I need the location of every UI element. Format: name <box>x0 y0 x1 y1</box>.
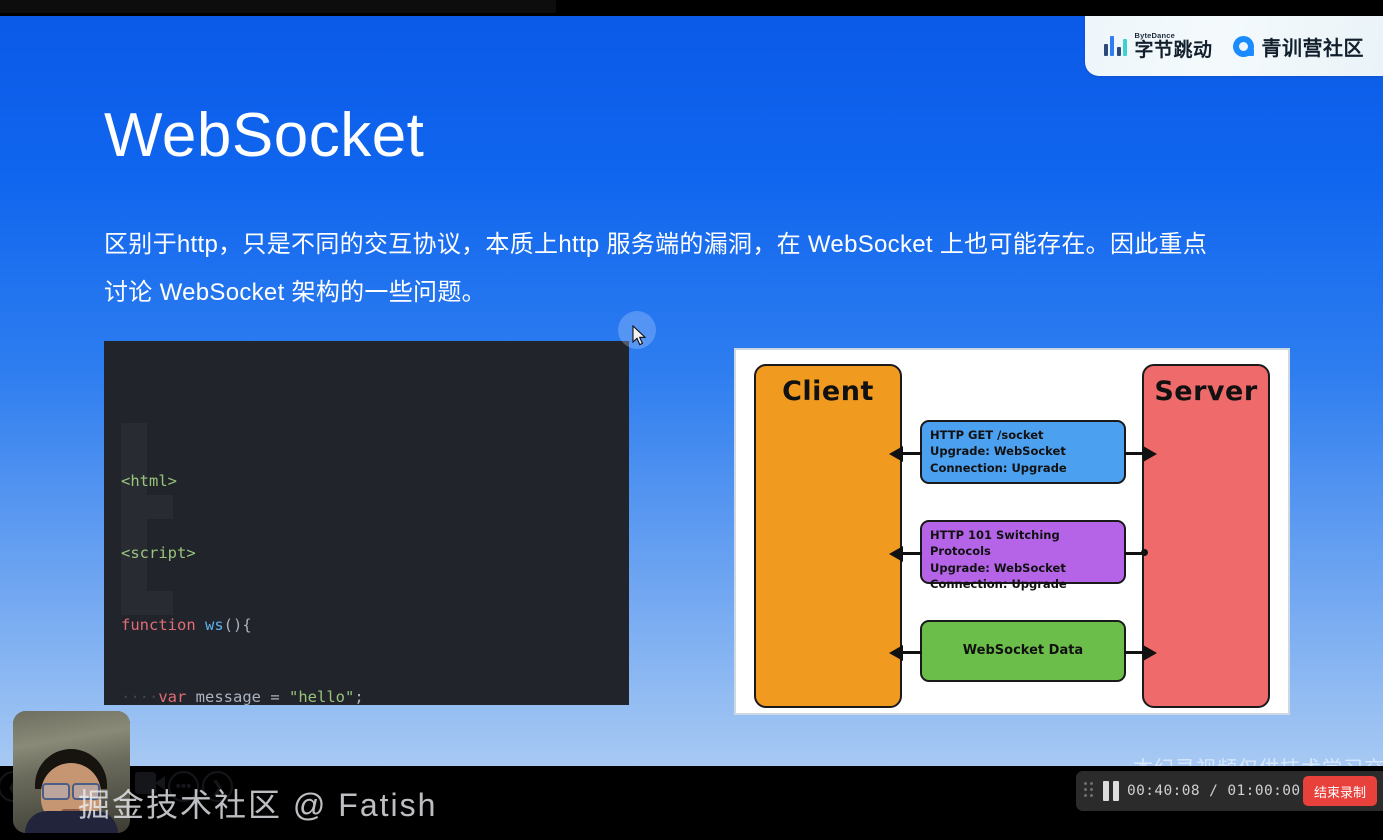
message-line: HTTP 101 Switching Protocols <box>930 527 1116 560</box>
code-token-fn-name: ws <box>205 616 224 634</box>
diagram-message-handshake-request: HTTP GET /socket Upgrade: WebSocket Conn… <box>920 420 1126 484</box>
slide-canvas: WebSocket 区别于http，只是不同的交互协议，本质上http 服务端的… <box>0 16 1383 766</box>
diagram-node-server: Server <box>1142 364 1270 708</box>
diagram-node-client: Client <box>754 364 902 708</box>
diagram-message-handshake-response: HTTP 101 Switching Protocols Upgrade: We… <box>920 520 1126 584</box>
server-label: Server <box>1144 376 1268 407</box>
code-whitespace-dots: ···· <box>121 688 158 705</box>
screen: WebSocket 区别于http，只是不同的交互协议，本质上http 服务端的… <box>0 0 1383 840</box>
code-line: <html> <box>104 469 629 493</box>
slide-title: WebSocket <box>104 102 424 170</box>
websocket-handshake-diagram: Client Server HTTP GET /socket Upgrade: … <box>734 348 1290 715</box>
recording-timer: 00:40:08 / 01:00:00 <box>1127 783 1300 799</box>
code-punc: = <box>261 688 289 705</box>
arrow-to-client <box>902 552 922 555</box>
stop-recording-button[interactable]: 结束录制 <box>1303 776 1377 806</box>
code-space <box>196 616 205 634</box>
code-space <box>186 688 195 705</box>
diagram-inner: Client Server HTTP GET /socket Upgrade: … <box>744 358 1280 705</box>
code-content: <html> <script> function ws(){ ····var m… <box>104 341 629 705</box>
pause-icon[interactable] <box>1103 781 1119 801</box>
watermark: 掘金技术社区 @ Fatish <box>78 780 437 826</box>
window-top-bar <box>0 0 1383 16</box>
community-mark-icon <box>1233 36 1254 57</box>
bytedance-text: ByteDance 字节跳动 <box>1134 32 1212 61</box>
indent-guide <box>121 423 147 615</box>
arrow-to-server <box>1124 452 1144 455</box>
bytedance-bars-icon <box>1104 36 1128 56</box>
drag-handle-icon[interactable] <box>1084 782 1097 800</box>
code-line: function ws(){ <box>104 613 629 637</box>
bytedance-label-en: ByteDance <box>1134 32 1212 40</box>
code-token-hello-str: "hello" <box>289 688 354 705</box>
code-token-var-kw: var <box>158 688 186 705</box>
code-punc: ; <box>354 688 363 705</box>
arrow-from-client <box>902 452 922 455</box>
code-token-function-kw: function <box>121 616 196 634</box>
slide-body-line-2: 讨论 WebSocket 架构的一些问题。 <box>104 269 1289 317</box>
top-bar-left-segment <box>0 0 556 13</box>
indent-guide <box>147 495 173 519</box>
community-label-cn: 青训营社区 <box>1262 32 1365 61</box>
community-logo: 青训营社区 <box>1233 32 1365 61</box>
code-line: ····var message = "hello"; <box>104 685 629 705</box>
code-line: <script> <box>104 541 629 565</box>
message-line: Upgrade: WebSocket <box>930 443 1116 459</box>
code-punc: (){ <box>224 616 252 634</box>
message-line: Connection: Upgrade <box>930 460 1116 476</box>
bytedance-label-cn: 字节跳动 <box>1134 41 1212 60</box>
mouse-cursor <box>632 325 648 347</box>
client-label: Client <box>756 376 900 407</box>
recording-control-bar[interactable]: 00:40:08 / 01:00:00 结束录制 <box>1076 771 1383 811</box>
code-token-message-id: message <box>196 688 261 705</box>
slide-body-line-1: 区别于http，只是不同的交互协议，本质上http 服务端的漏洞，在 WebSo… <box>104 221 1289 269</box>
diagram-message-websocket-data: WebSocket Data <box>920 620 1126 682</box>
sponsor-brand-bar: ByteDance 字节跳动 青训营社区 <box>1085 16 1383 76</box>
indent-guide <box>147 591 173 615</box>
message-line: Connection: Upgrade <box>930 576 1116 592</box>
bytedance-logo: ByteDance 字节跳动 <box>1104 32 1213 61</box>
message-line: HTTP GET /socket <box>930 427 1116 443</box>
code-block: <html> <script> function ws(){ ····var m… <box>104 341 629 705</box>
top-bar-right-segment <box>558 0 1383 13</box>
slide-body-text: 区别于http，只是不同的交互协议，本质上http 服务端的漏洞，在 WebSo… <box>104 221 1289 317</box>
message-line: Upgrade: WebSocket <box>930 560 1116 576</box>
message-line: WebSocket Data <box>963 642 1083 660</box>
arrow-data-to-server <box>1124 651 1144 654</box>
line-endpoint-dot <box>1141 549 1148 556</box>
arrow-data-to-client <box>902 651 922 654</box>
